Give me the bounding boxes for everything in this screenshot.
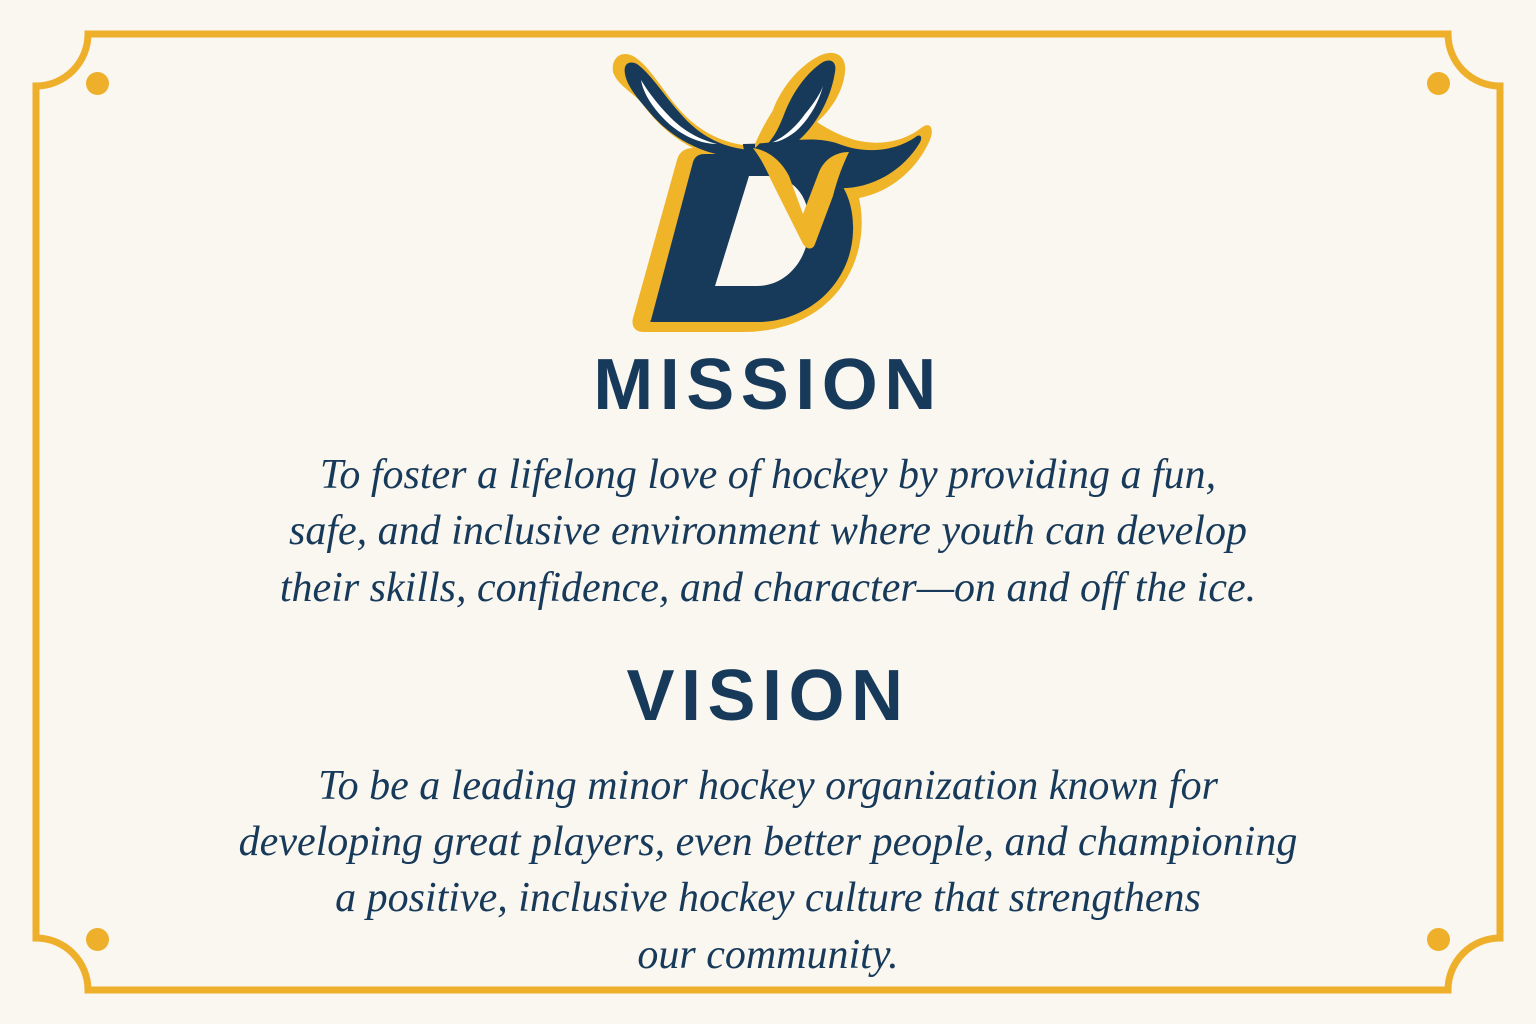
- vision-line-4: our community.: [118, 927, 1418, 983]
- mission-line-1: To foster a lifelong love of hockey by p…: [143, 447, 1393, 503]
- mission-line-2: safe, and inclusive environment where yo…: [143, 503, 1393, 559]
- mission-line-3: their skills, confidence, and character—…: [143, 560, 1393, 616]
- dv-bull-horns-logo: [603, 48, 933, 333]
- vision-line-1: To be a leading minor hockey organizatio…: [118, 758, 1418, 814]
- vision-text: To be a leading minor hockey organizatio…: [118, 758, 1418, 983]
- mission-heading: MISSION: [593, 349, 942, 421]
- mission-vision-poster: MISSION To foster a lifelong love of hoc…: [0, 0, 1536, 1024]
- vision-line-2: developing great players, even better pe…: [118, 814, 1418, 870]
- vision-heading: VISION: [627, 660, 910, 732]
- mission-text: To foster a lifelong love of hockey by p…: [143, 447, 1393, 616]
- vision-line-3: a positive, inclusive hockey culture tha…: [118, 870, 1418, 926]
- poster-content: MISSION To foster a lifelong love of hoc…: [0, 0, 1536, 1024]
